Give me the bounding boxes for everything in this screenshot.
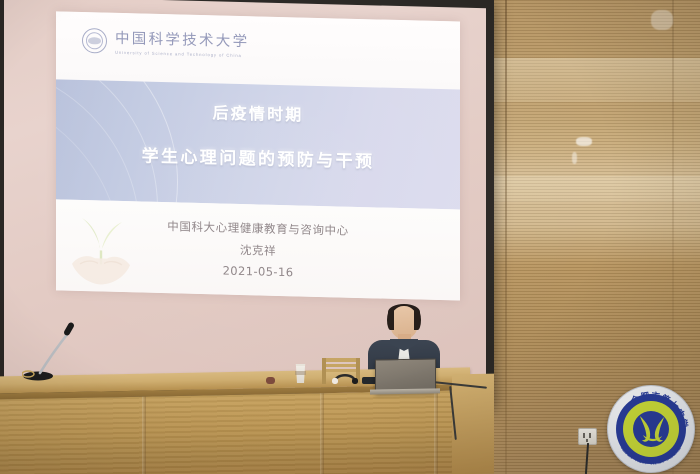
institution-name-chinese: 中国科学技术大学 xyxy=(115,27,249,51)
person-hair-left xyxy=(387,310,394,330)
emblem-english-text: HEFEINO.7HIGHSCHOOL xyxy=(607,385,695,473)
lecture-hall-photo: 中国科学技术大学 University of Science and Techn… xyxy=(0,0,700,474)
ustc-seal-icon xyxy=(82,27,107,53)
emblem-char: 7 xyxy=(644,460,648,466)
presentation-slide: 中国科学技术大学 University of Science and Techn… xyxy=(56,11,460,300)
institution-name-english: University of Science and Technology of … xyxy=(115,50,249,58)
school-emblem: 合肥市第七中学 HEFEINO.7HIGHSCHOOL xyxy=(607,385,695,473)
podium-side-block xyxy=(452,374,494,474)
person-hair-right xyxy=(414,310,421,330)
headphones-icon xyxy=(332,369,358,384)
emblem-char: H xyxy=(659,458,665,465)
cup-band xyxy=(295,371,306,375)
desk-small-object xyxy=(266,377,275,384)
slide-header-band: 中国科学技术大学 University of Science and Techn… xyxy=(56,11,460,89)
desk-front-panel xyxy=(0,390,470,474)
gooseneck-microphone-icon xyxy=(22,310,84,382)
institution-logo: 中国科学技术大学 University of Science and Techn… xyxy=(82,26,249,58)
